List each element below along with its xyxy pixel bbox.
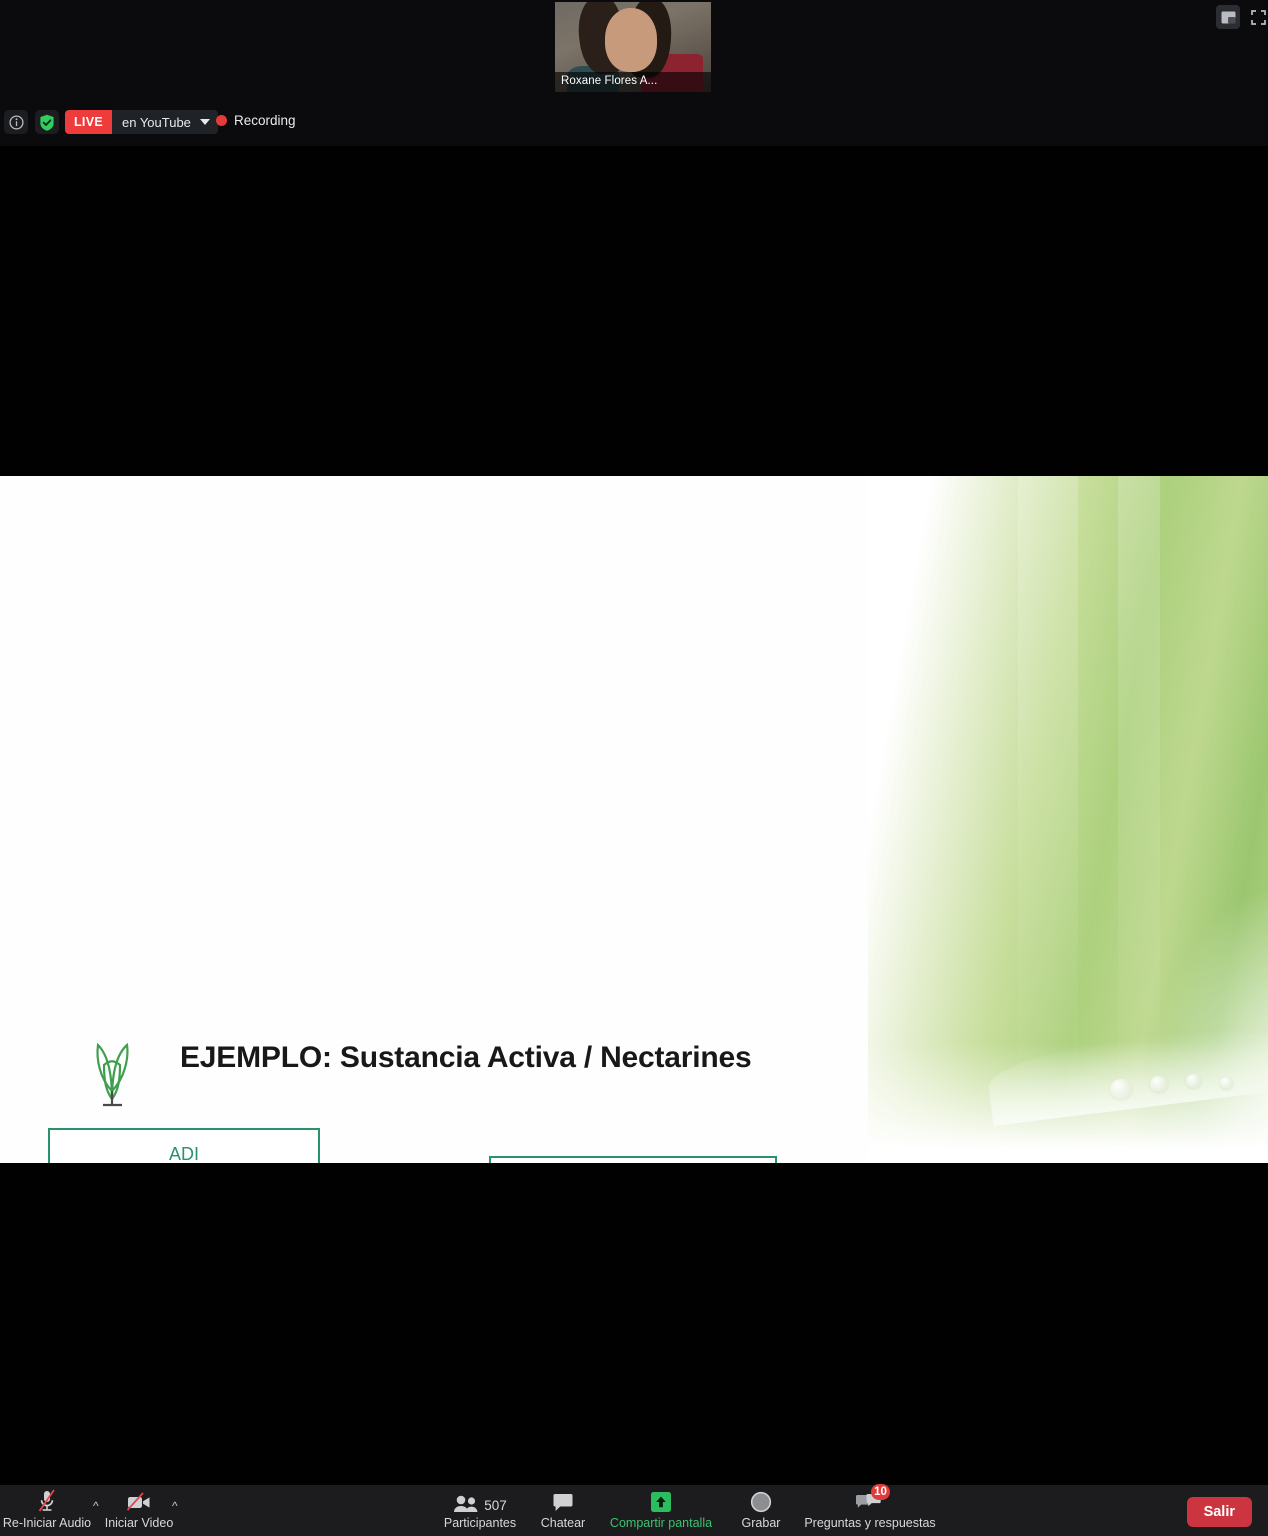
video-options-chevron-icon[interactable]: ^ <box>172 1499 178 1513</box>
participants-icon: 507 <box>453 1489 507 1513</box>
exposure-box: Exposición en el largo plazo <box>489 1156 777 1163</box>
audio-options-chevron-icon[interactable]: ^ <box>93 1499 99 1513</box>
video-button[interactable]: Iniciar Video <box>100 1489 178 1535</box>
microphone-muted-icon <box>37 1489 57 1513</box>
share-screen-icon <box>648 1489 674 1513</box>
shield-icon[interactable] <box>35 110 59 134</box>
share-screen-button[interactable]: Compartir pantalla <box>600 1489 722 1535</box>
picture-in-picture-icon[interactable] <box>1216 5 1240 29</box>
participants-count: 507 <box>484 1498 507 1513</box>
plant-leaf-icon <box>84 1029 140 1107</box>
fullscreen-icon[interactable] <box>1246 5 1268 29</box>
participants-button[interactable]: 507 Participantes <box>438 1489 522 1535</box>
live-badge: LIVE <box>65 110 112 134</box>
audio-button[interactable]: Re-Iniciar Audio <box>6 1489 88 1535</box>
shared-screen-letterbox-bottom <box>0 1163 1268 1485</box>
video-label: Iniciar Video <box>105 1516 174 1530</box>
adi-definition-box: ADI Ingesta Diaria Admisible Acceptable … <box>48 1128 320 1163</box>
participants-label: Participantes <box>444 1516 516 1530</box>
qa-label: Preguntas y respuestas <box>804 1516 935 1530</box>
recording-label: Recording <box>234 113 296 128</box>
record-dot-icon <box>216 115 227 126</box>
live-stream-control[interactable]: LIVE en YouTube <box>65 110 218 134</box>
leaf-background-decoration <box>868 476 1268 1163</box>
thumbnail-art <box>605 8 657 72</box>
qa-badge: 10 <box>871 1484 890 1500</box>
record-circle-icon <box>750 1489 772 1513</box>
info-icon[interactable] <box>4 110 28 134</box>
participant-video-thumbnail[interactable]: Roxane Flores A... <box>555 2 711 92</box>
live-platform-dropdown[interactable]: en YouTube <box>112 110 218 134</box>
chat-button[interactable]: Chatear <box>527 1489 599 1535</box>
chat-label: Chatear <box>541 1516 585 1530</box>
record-button[interactable]: Grabar <box>727 1489 795 1535</box>
qa-button[interactable]: 10 Preguntas y respuestas <box>800 1489 940 1535</box>
video-thumbnail-strip: Roxane Flores A... <box>0 0 1268 100</box>
zoom-meeting-window: Roxane Flores A... LIVE <box>0 0 1268 1536</box>
share-screen-label: Compartir pantalla <box>610 1516 712 1530</box>
page-title: EJEMPLO: Sustancia Activa / Nectarines <box>180 1041 752 1075</box>
record-label: Grabar <box>742 1516 781 1530</box>
shared-screen-letterbox-top <box>0 146 1268 476</box>
shared-slide: EJEMPLO: Sustancia Activa / Nectarines A… <box>0 476 1268 1163</box>
leave-meeting-button[interactable]: Salir <box>1187 1497 1252 1527</box>
participant-name-bar: Roxane Flores A... <box>555 72 711 92</box>
meeting-toolbar: Re-Iniciar Audio ^ Iniciar Video ^ <box>0 1485 1268 1536</box>
camera-muted-icon <box>126 1489 152 1513</box>
audio-label: Re-Iniciar Audio <box>3 1516 91 1530</box>
adi-line-1: ADI <box>169 1144 199 1163</box>
live-platform-label: en YouTube <box>122 115 191 130</box>
recording-indicator[interactable]: Recording <box>216 113 296 128</box>
participant-name: Roxane Flores A... <box>561 75 657 87</box>
chevron-down-icon <box>200 119 210 125</box>
chat-bubble-icon <box>552 1489 574 1513</box>
qa-bubbles-icon: 10 <box>855 1489 885 1513</box>
